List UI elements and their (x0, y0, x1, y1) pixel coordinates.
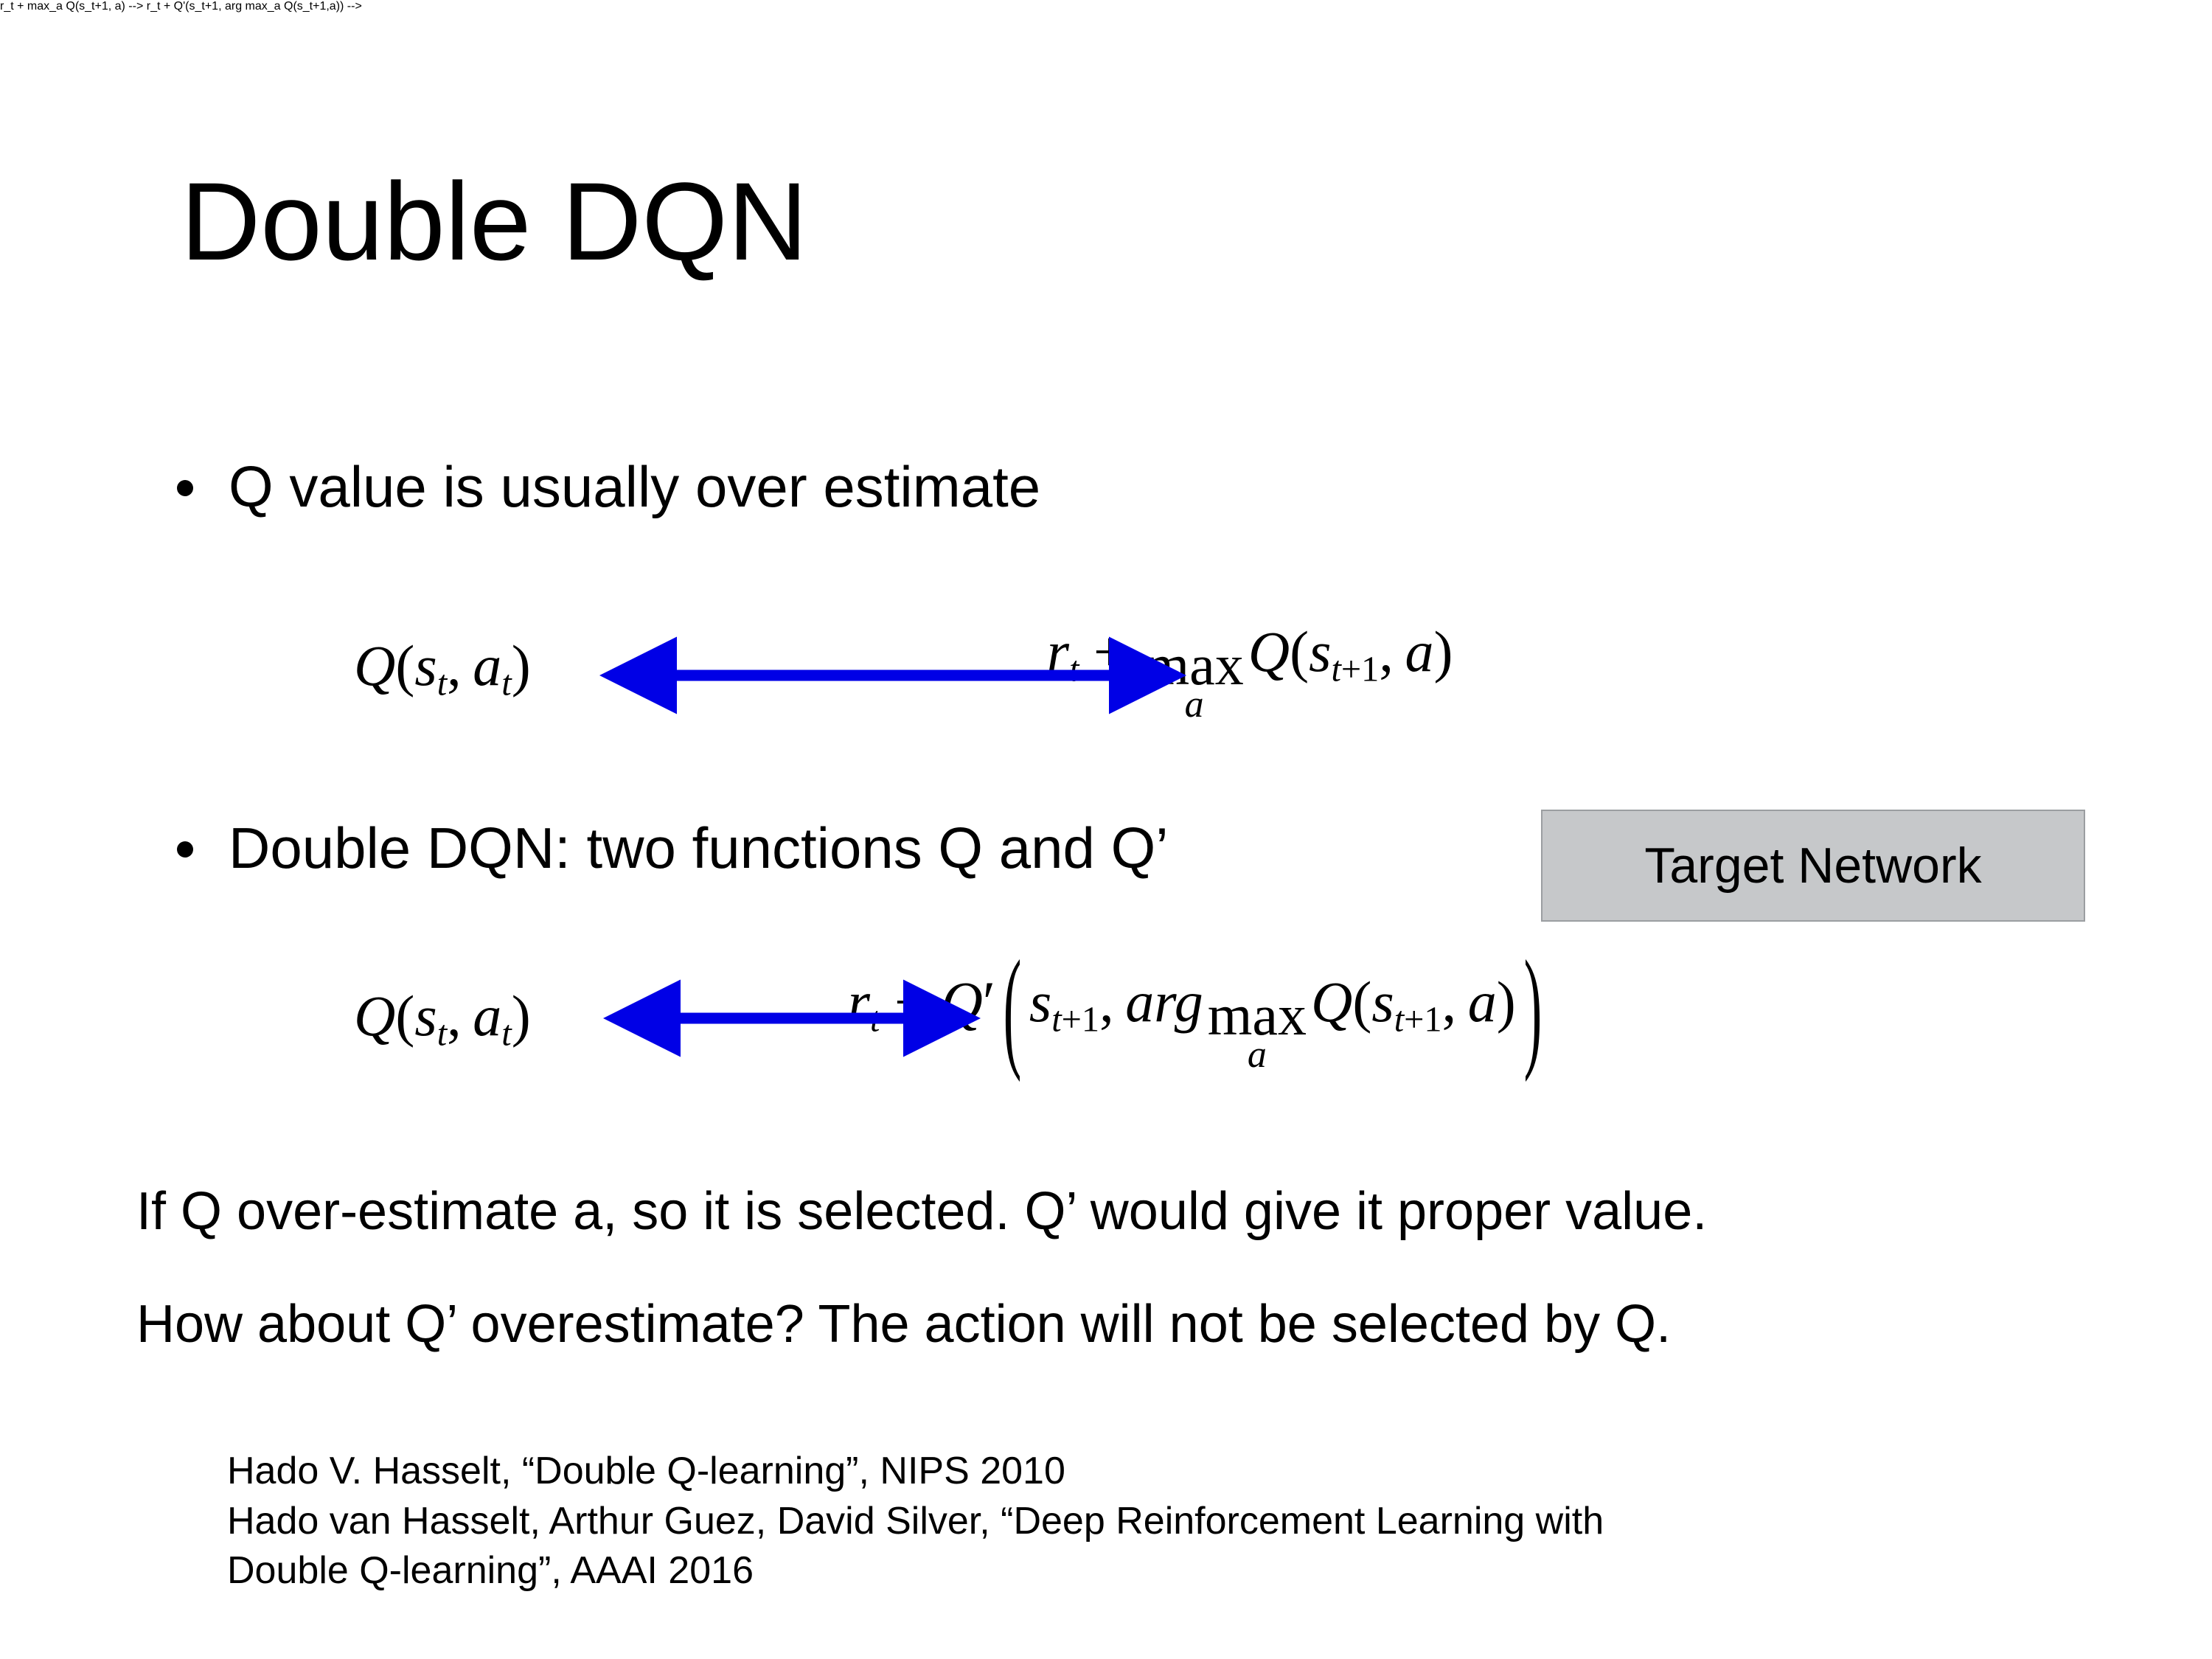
target-network-label: Target Network (1644, 837, 1981, 894)
bullet-dot-icon (177, 480, 193, 496)
citation-block: Hado V. Hasselt, “Double Q-learning”, NI… (227, 1447, 1604, 1596)
bullet-item-2-label: Double DQN: two functions Q and Q’ (229, 818, 1169, 879)
big-paren-open: ( (1004, 940, 1022, 1075)
equation-double-dqn-target: Q(st, at) rt + Q′(st+1, argmaxaQ(st+1, a… (354, 973, 1550, 1060)
bullet-item-1: Q value is usually over estimate (177, 457, 1040, 518)
big-paren-close: ) (1523, 940, 1542, 1075)
citation-line-1: Hado V. Hasselt, “Double Q-learning”, NI… (227, 1447, 1604, 1497)
max-operator-2: maxa (1208, 989, 1307, 1073)
page-title: Double DQN (181, 166, 807, 276)
arrow-double-headed-2 (653, 994, 947, 1053)
explanation-line-1: If Q over-estimate a, so it is selected.… (136, 1185, 1707, 1238)
equation-2-lhs: Q(st, at) (354, 987, 531, 1045)
equation-2-rhs: rt + Q′(st+1, argmaxaQ(st+1, a)) (848, 973, 1550, 1060)
explanation-line-2: How about Q’ overestimate? The action wi… (136, 1298, 1671, 1351)
equation-1-lhs: Q(st, at) (354, 637, 531, 695)
citation-line-3: Double Q-learning”, AAAI 2016 (227, 1546, 1604, 1596)
bullet-item-2: Double DQN: two functions Q and Q’ (177, 818, 1169, 879)
max-operator-1: maxa (1144, 639, 1243, 723)
target-network-callout[interactable]: Target Network (1541, 810, 2085, 922)
bullet-dot-icon (177, 841, 193, 858)
citation-line-2: Hado van Hasselt, Arthur Guez, David Sil… (227, 1497, 1604, 1547)
arrow-double-headed-1 (649, 649, 1143, 708)
slide-canvas: Double DQN Q value is usually over estim… (0, 0, 2212, 1659)
bullet-item-1-label: Q value is usually over estimate (229, 457, 1040, 518)
